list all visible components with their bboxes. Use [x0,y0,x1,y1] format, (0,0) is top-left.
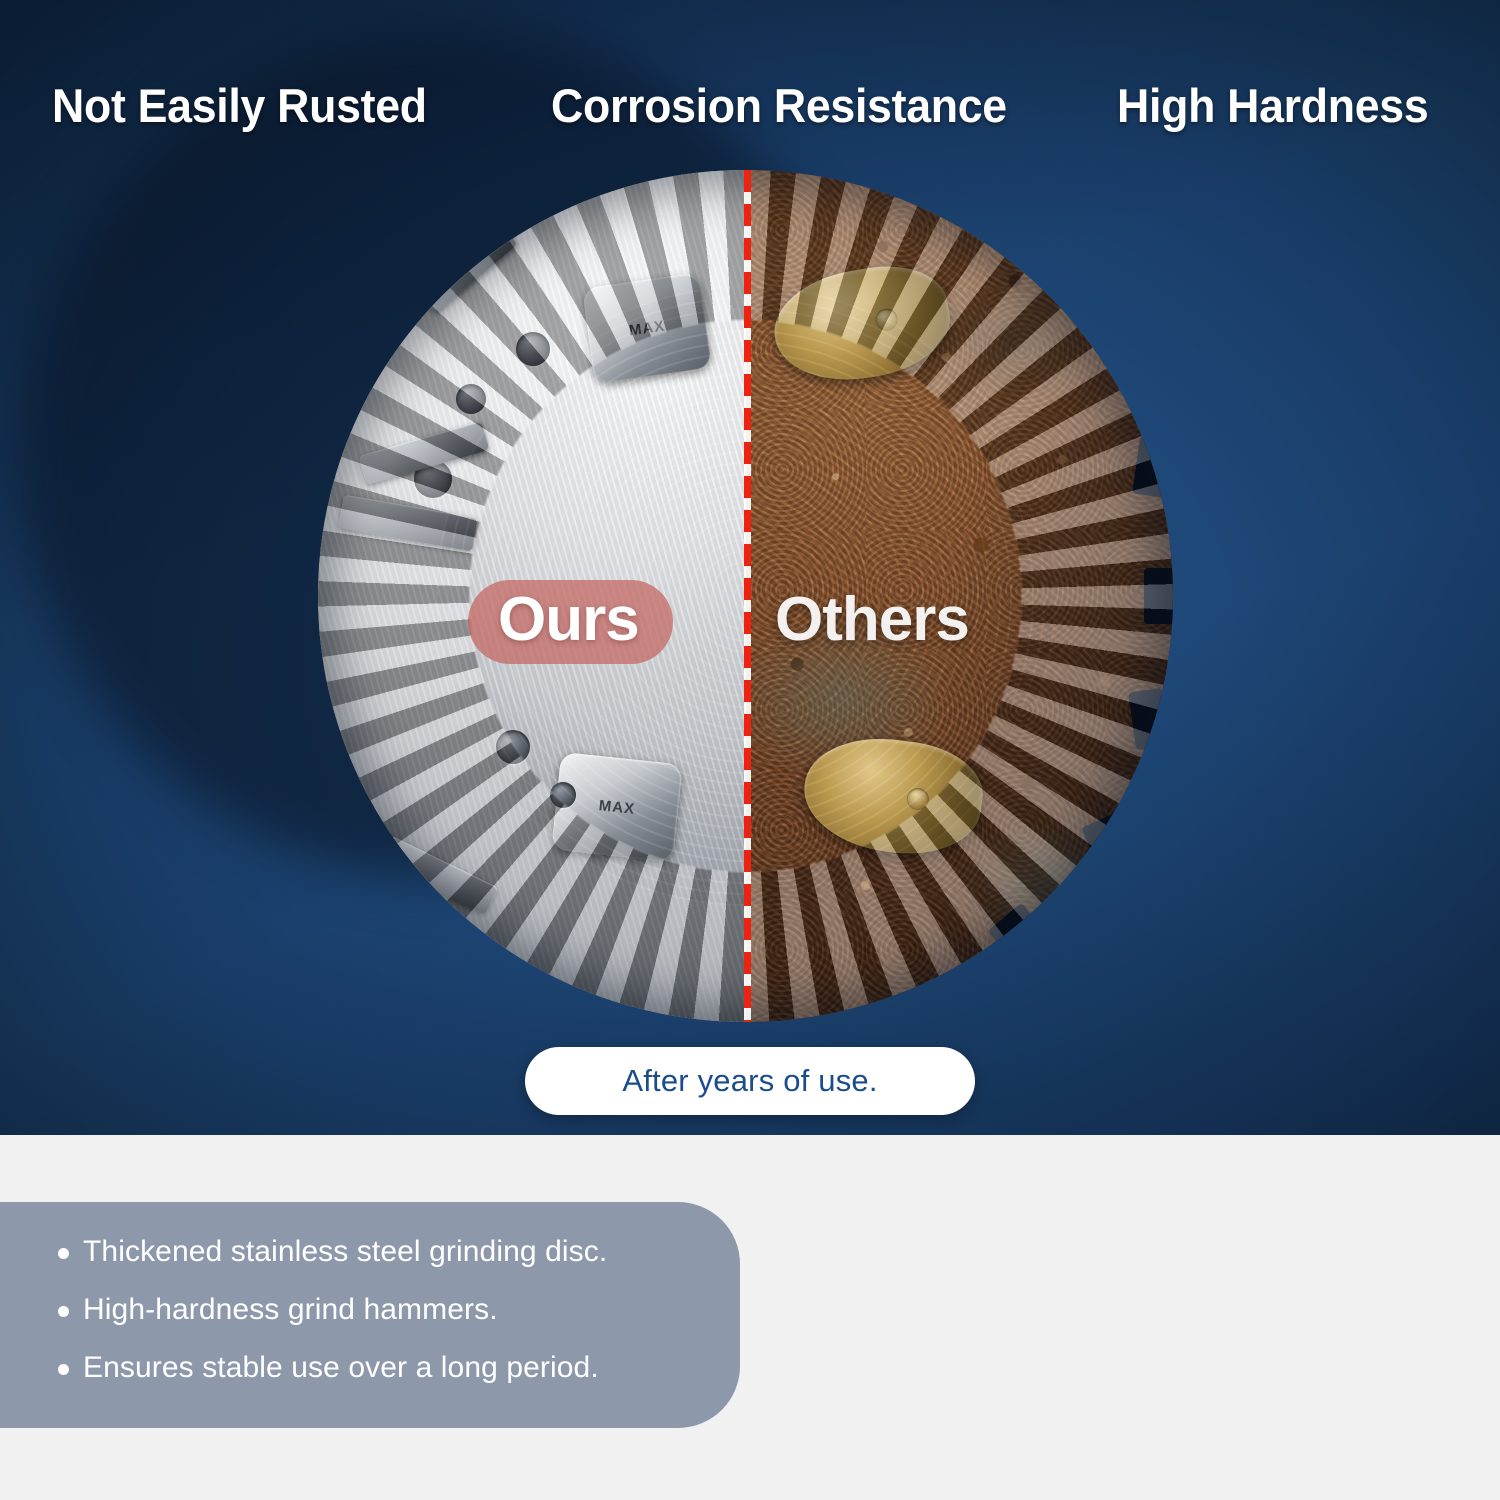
headline-row: Not Easily Rusted Corrosion Resistance H… [0,73,1500,139]
headline-high-hardness: High Hardness [1117,73,1428,139]
feature-bullet-text: Ensures stable use over a long period. [83,1348,599,1388]
bullet-dot-icon [58,1248,69,1259]
red-dashed-divider [744,170,751,1022]
overlay-label-ours: Ours [468,580,673,664]
feature-bullet-panel: Thickened stainless steel grinding disc.… [0,1202,740,1428]
list-item: Thickened stainless steel grinding disc. [58,1232,740,1290]
bullet-dot-icon [58,1306,69,1317]
list-item: High-hardness grind hammers. [58,1290,740,1348]
hero-section: Not Easily Rusted Corrosion Resistance H… [0,0,1500,1135]
overlay-label-others: Others [775,589,969,651]
feature-bullet-text: High-hardness grind hammers. [83,1290,498,1330]
product-feature-graphic: Not Easily Rusted Corrosion Resistance H… [0,0,1500,1500]
features-section: Thickened stainless steel grinding disc.… [0,1135,1500,1500]
overlay-label-ours-text: Ours [498,585,639,654]
headline-not-easily-rusted: Not Easily Rusted [52,73,427,139]
list-item: Ensures stable use over a long period. [58,1348,740,1406]
caption-pill: After years of use. [525,1047,975,1115]
headline-corrosion-resistance: Corrosion Resistance [551,73,1007,139]
bullet-dot-icon [58,1364,69,1375]
caption-text: After years of use. [622,1063,877,1099]
feature-bullet-text: Thickened stainless steel grinding disc. [83,1232,607,1272]
